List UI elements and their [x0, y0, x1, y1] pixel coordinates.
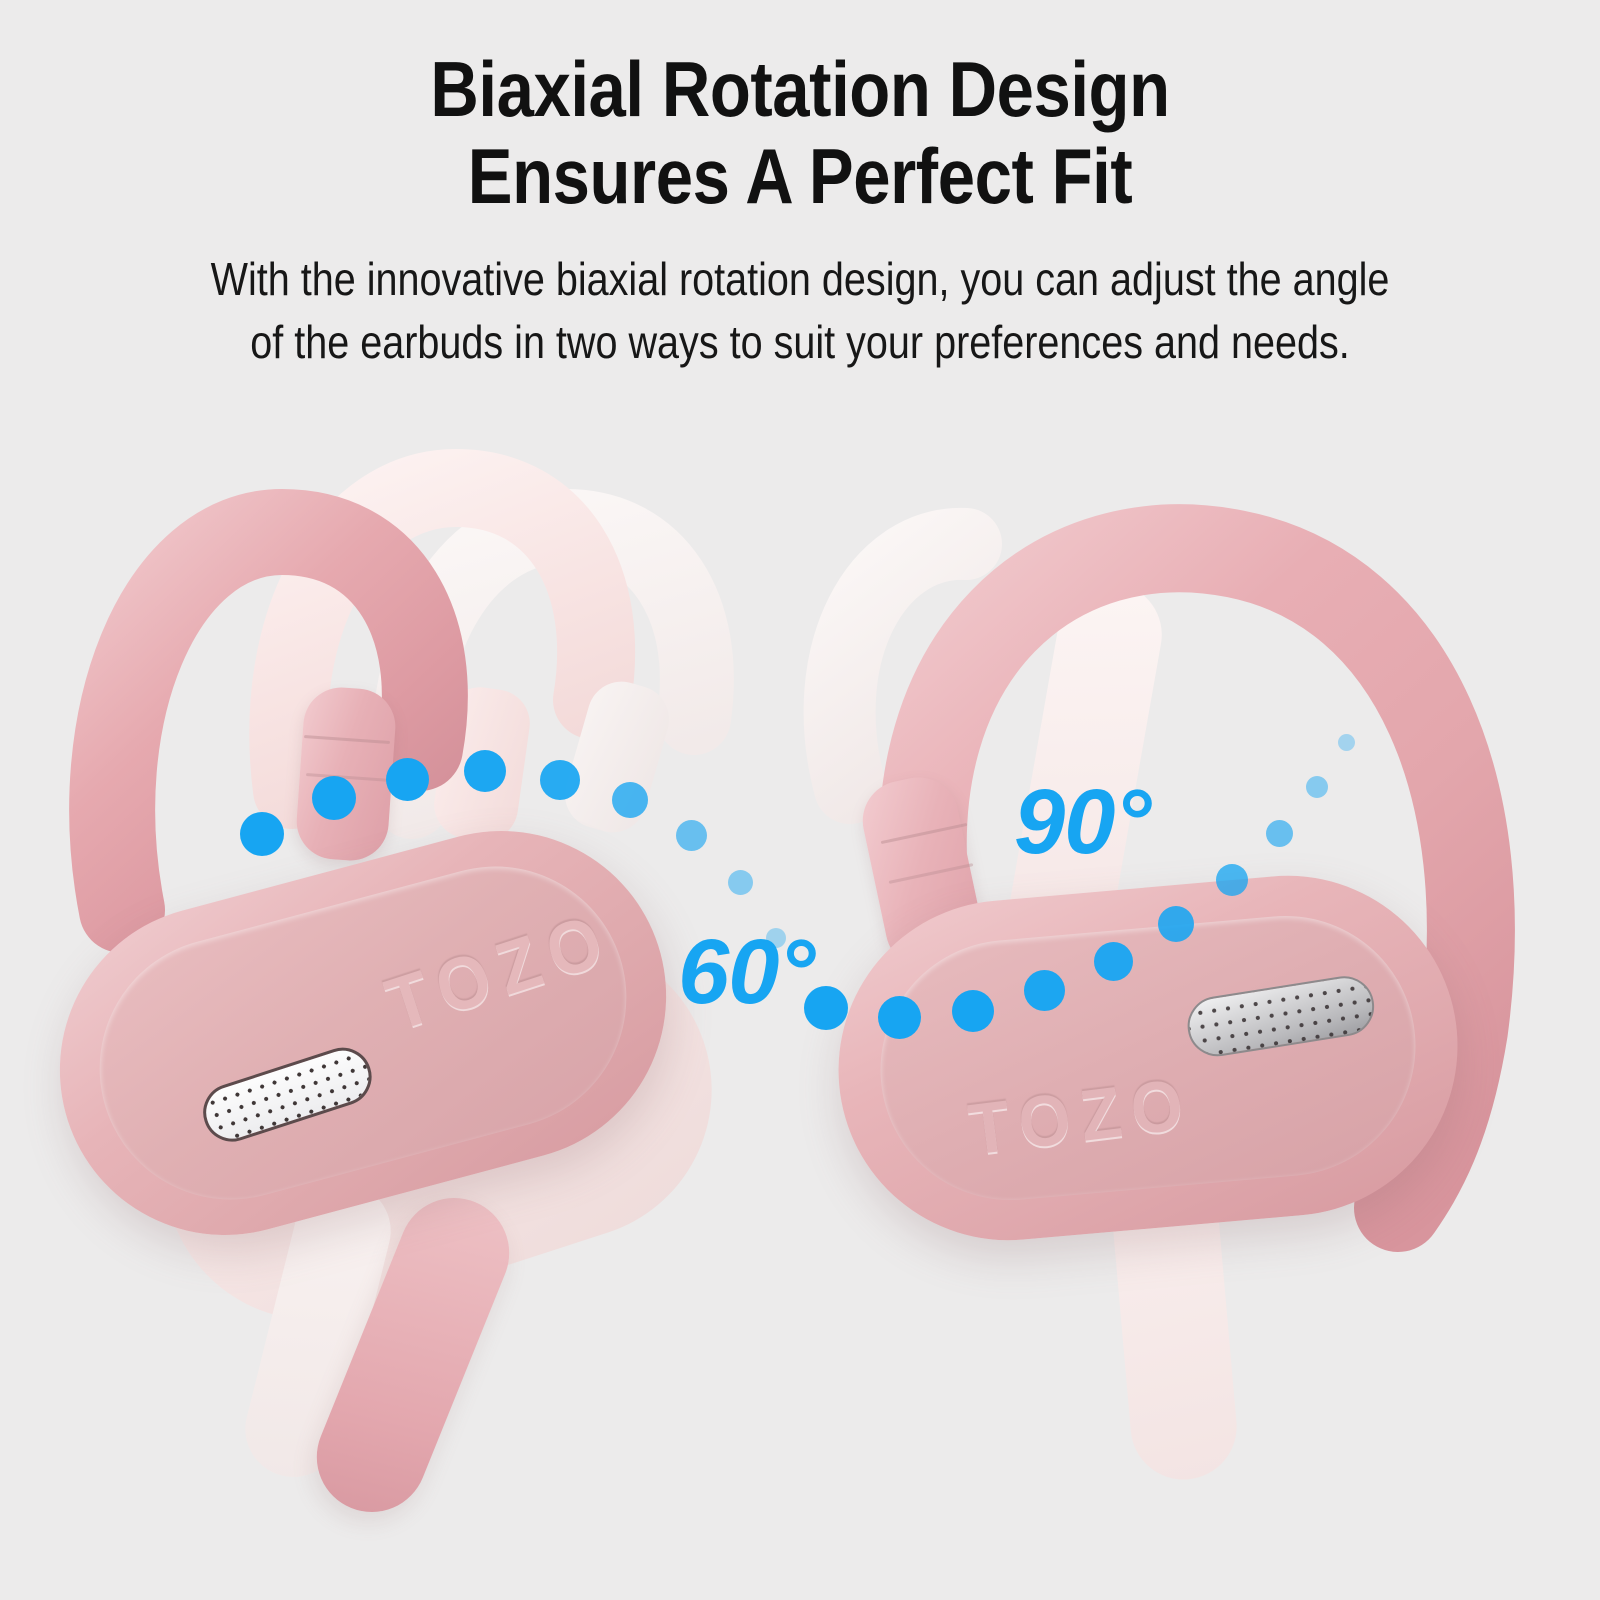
right-angle-label: 90° [1014, 770, 1150, 875]
product-feature-image: Biaxial Rotation Design Ensures A Perfec… [0, 0, 1600, 1600]
product-illustration: TOZO 60° [0, 400, 1600, 1600]
left-arc-dot-5 [540, 760, 580, 800]
left-arc-dot-4 [464, 750, 506, 792]
left-earbud-assembly: TOZO 60° [40, 420, 800, 1420]
left-arc-dot-2 [312, 776, 356, 820]
headline-line-1: Biaxial Rotation Design [112, 46, 1488, 133]
subhead-line-2: of the earbuds in two ways to suit your … [112, 311, 1488, 374]
headline-line-2: Ensures A Perfect Fit [112, 133, 1488, 220]
right-pod-face [870, 905, 1427, 1211]
left-arc-dot-8 [728, 870, 753, 895]
right-arc-dot-9 [1306, 776, 1328, 798]
right-arc-dot-8 [1266, 820, 1293, 847]
left-arc-dot-6 [612, 782, 648, 818]
page-title: Biaxial Rotation Design Ensures A Perfec… [112, 46, 1488, 221]
right-arc-dot-4 [1024, 970, 1065, 1011]
left-arc-dot-1 [240, 812, 284, 856]
right-arc-dot-10 [1338, 734, 1355, 751]
right-arc-dot-3 [952, 990, 994, 1032]
right-arc-dot-5 [1094, 942, 1133, 981]
right-earbud-assembly: TOZO 90° [790, 430, 1580, 1430]
page-subtitle: With the innovative biaxial rotation des… [112, 248, 1488, 375]
right-arc-dot-2 [878, 996, 921, 1039]
right-arc-dot-7 [1216, 864, 1248, 896]
subhead-line-1: With the innovative biaxial rotation des… [112, 248, 1488, 311]
right-arc-dot-6 [1158, 906, 1194, 942]
left-arc-dot-7 [676, 820, 707, 851]
left-arc-dot-3 [386, 758, 429, 801]
right-arc-dot-1 [804, 986, 848, 1030]
